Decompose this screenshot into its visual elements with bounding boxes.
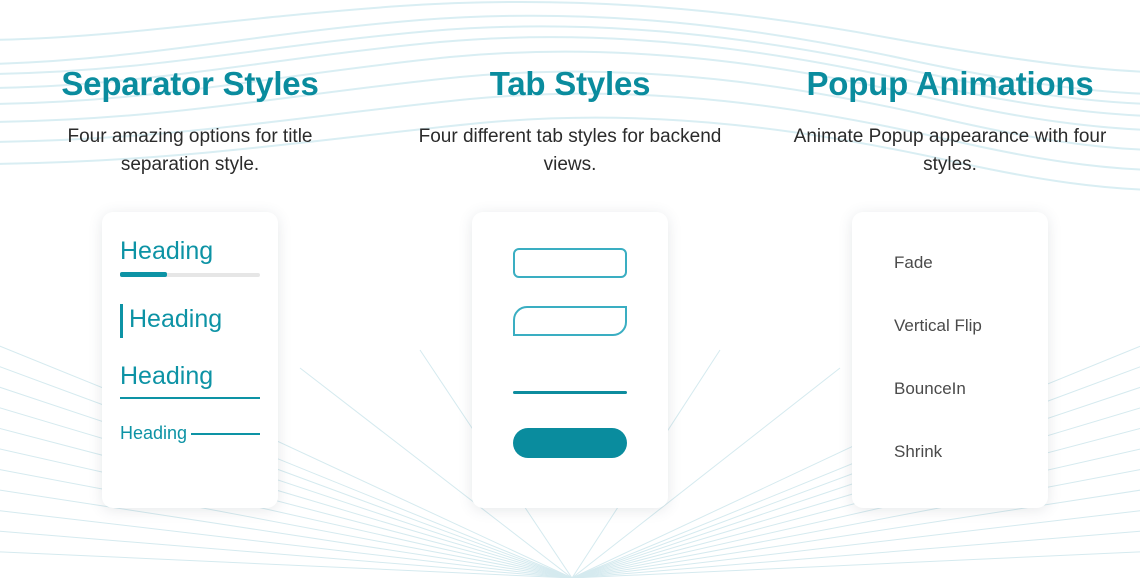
card-animation-list: Fade Vertical Flip BounceIn Shrink bbox=[852, 212, 1048, 508]
separator-label: Heading bbox=[120, 424, 187, 443]
animation-option-vertical-flip[interactable]: Vertical Flip bbox=[894, 317, 1048, 334]
separator-style-inline-trailing-line[interactable]: Heading bbox=[120, 424, 260, 443]
card-tab-preview bbox=[472, 212, 668, 508]
card-separator-preview: Heading Heading Heading Heading bbox=[102, 212, 278, 508]
separator-rule-track bbox=[120, 273, 260, 277]
column-tab-styles: Tab Styles Four different tab styles for… bbox=[380, 66, 760, 578]
description-popup-animations: Animate Popup appearance with four style… bbox=[785, 123, 1115, 178]
separator-rule-fill bbox=[120, 272, 167, 277]
column-separator-styles: Separator Styles Four amazing options fo… bbox=[0, 66, 380, 578]
tab-style-filled-pill[interactable] bbox=[513, 428, 627, 458]
separator-underline bbox=[120, 397, 260, 399]
separator-style-underline-full[interactable]: Heading bbox=[120, 363, 260, 399]
tab-style-outlined-rounded-rect[interactable] bbox=[513, 248, 627, 278]
separator-style-underline-partial[interactable]: Heading bbox=[120, 238, 260, 277]
page-title-tab-styles: Tab Styles bbox=[490, 66, 651, 102]
tab-style-underline-bar[interactable] bbox=[513, 391, 627, 394]
separator-label: Heading bbox=[120, 238, 260, 264]
description-separator-styles: Four amazing options for title separatio… bbox=[25, 123, 355, 178]
animation-option-shrink[interactable]: Shrink bbox=[894, 443, 1048, 460]
separator-label: Heading bbox=[129, 304, 222, 338]
feature-columns: Separator Styles Four amazing options fo… bbox=[0, 0, 1140, 578]
description-tab-styles: Four different tab styles for backend vi… bbox=[405, 123, 735, 178]
separator-label: Heading bbox=[120, 363, 260, 389]
page-title-separator-styles: Separator Styles bbox=[61, 66, 318, 102]
separator-trailing-line bbox=[191, 433, 260, 435]
animation-option-fade[interactable]: Fade bbox=[894, 254, 1048, 271]
column-popup-animations: Popup Animations Animate Popup appearanc… bbox=[760, 66, 1140, 578]
page-title-popup-animations: Popup Animations bbox=[806, 66, 1093, 102]
separator-style-left-vertical-bar[interactable]: Heading bbox=[120, 304, 260, 338]
animation-option-bouncein[interactable]: BounceIn bbox=[894, 380, 1048, 397]
separator-vertical-bar bbox=[120, 304, 123, 338]
tab-style-outlined-diagonal-rounded[interactable] bbox=[513, 306, 627, 336]
